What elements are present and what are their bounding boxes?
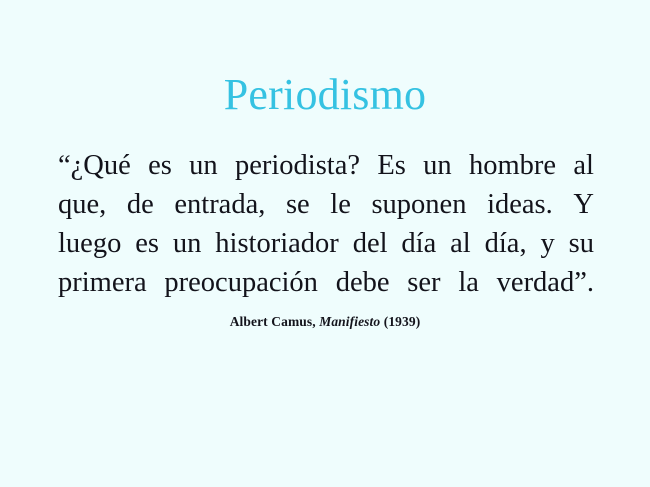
quote-word: es	[148, 146, 172, 185]
quote-word: es	[135, 224, 159, 263]
quote-word: periodista?	[235, 146, 360, 185]
quote-word: primera	[58, 263, 147, 302]
quote-word: debe	[336, 263, 390, 302]
quote-line-1: “¿Qué es un periodista? Es un hombre al	[58, 146, 594, 185]
quote-word: al	[573, 146, 594, 185]
quote-word: Es	[377, 146, 406, 185]
quote-word: ser	[407, 263, 440, 302]
quote-word: Y	[573, 185, 594, 224]
quote-word: suponen	[371, 185, 466, 224]
quote-word: entrada,	[174, 185, 265, 224]
quote-word: día,	[485, 224, 527, 263]
page-title: Periodismo	[0, 72, 650, 118]
quote-line-3: luego es un historiador del día al día, …	[58, 224, 594, 263]
quote-word: que,	[58, 185, 106, 224]
quote-block: “¿Qué es un periodista? Es un hombre al …	[58, 146, 594, 302]
attribution-work: Manifiesto	[319, 314, 380, 329]
quote-word: le	[330, 185, 351, 224]
quote-slide: Periodismo “¿Qué es un periodista? Es un…	[0, 0, 650, 487]
quote-word: hombre	[469, 146, 556, 185]
quote-word: un	[173, 224, 202, 263]
quote-line-2: que, de entrada, se le suponen ideas. Y	[58, 185, 594, 224]
quote-word: ideas.	[487, 185, 553, 224]
quote-word: verdad”.	[497, 263, 594, 302]
quote-attribution: Albert Camus, Manifiesto (1939)	[0, 314, 650, 330]
quote-word: su	[569, 224, 594, 263]
quote-word: un	[423, 146, 452, 185]
quote-word: día	[401, 224, 436, 263]
quote-word: luego	[58, 224, 121, 263]
quote-word: “¿Qué	[58, 146, 131, 185]
quote-word: y	[541, 224, 555, 263]
quote-word: del	[353, 224, 388, 263]
quote-word: historiador	[215, 224, 338, 263]
attribution-author: Albert Camus,	[230, 314, 316, 329]
attribution-year: (1939)	[384, 314, 421, 329]
quote-word: se	[286, 185, 310, 224]
quote-line-4: primera preocupación debe ser la verdad”…	[58, 263, 594, 302]
quote-word: un	[189, 146, 218, 185]
quote-word: al	[450, 224, 471, 263]
quote-word: de	[127, 185, 154, 224]
quote-word: preocupación	[164, 263, 318, 302]
quote-word: la	[458, 263, 479, 302]
